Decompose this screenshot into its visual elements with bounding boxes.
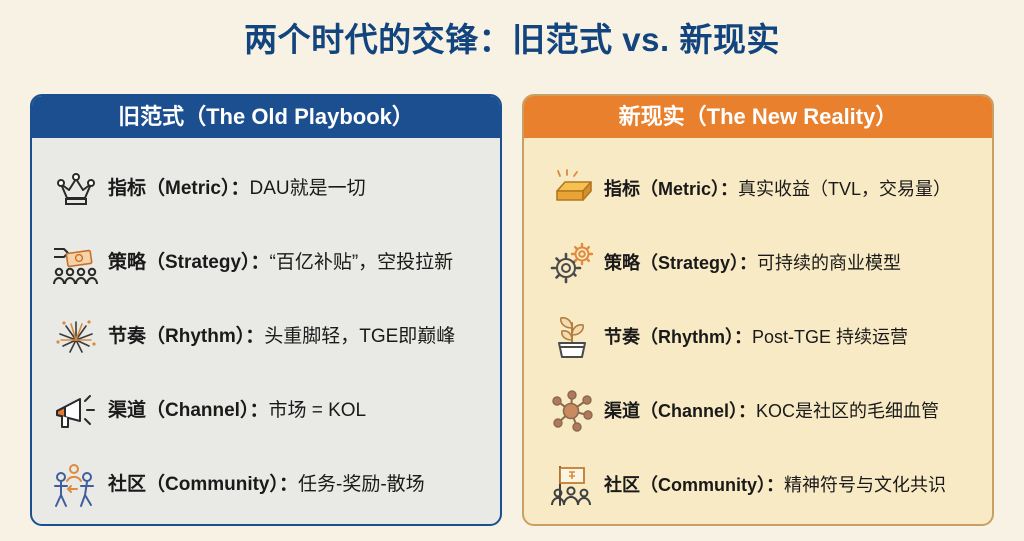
list-item-text: 社区（Community）：精神符号与文化共识 xyxy=(604,472,946,498)
flag-people-icon xyxy=(544,457,600,513)
list-item-text: 渠道（Channel）：KOC是社区的毛细血管 xyxy=(604,398,939,424)
list-item-text: 策略（Strategy）：“百亿补贴”，空投拉新 xyxy=(108,250,453,276)
hand-money-crowd-icon xyxy=(48,235,104,291)
list-item-label: 渠道（Channel）： xyxy=(604,401,756,421)
panel-old-playbook: 旧范式（The Old Playbook） 指标（Metric）：DAU就是一切 xyxy=(30,94,502,526)
list-item: 渠道（Channel）：KOC是社区的毛细血管 xyxy=(524,374,992,448)
list-item: 指标（Metric）：真实收益（TVL，交易量） xyxy=(524,152,992,226)
list-item-text: 渠道（Channel）：市场 = KOL xyxy=(108,398,366,424)
network-nodes-icon xyxy=(544,383,600,439)
list-item: 指标（Metric）：DAU就是一切 xyxy=(32,152,500,226)
list-item-value: KOC是社区的毛细血管 xyxy=(756,401,939,421)
panel-new-body: 指标（Metric）：真实收益（TVL，交易量） xyxy=(524,138,992,512)
list-item-label: 节奏（Rhythm）： xyxy=(108,326,264,347)
list-item-value: 市场 = KOL xyxy=(268,400,366,421)
list-item-label: 策略（Strategy）： xyxy=(108,252,270,273)
panel-old-header: 旧范式（The Old Playbook） xyxy=(32,96,500,138)
list-item-value: Post-TGE 持续运营 xyxy=(752,327,908,347)
list-item: 节奏（Rhythm）：Post-TGE 持续运营 xyxy=(524,300,992,374)
list-item-value: 精神符号与文化共识 xyxy=(784,475,946,495)
list-item-label: 节奏（Rhythm）： xyxy=(604,327,752,347)
page-title: 两个时代的交锋：旧范式 vs. 新现实 xyxy=(0,18,1024,62)
list-item-label: 社区（Community）： xyxy=(604,475,784,495)
list-item-text: 节奏（Rhythm）：Post-TGE 持续运营 xyxy=(604,324,908,350)
list-item-value: 可持续的商业模型 xyxy=(757,253,901,273)
comparison-panels: 旧范式（The Old Playbook） 指标（Metric）：DAU就是一切 xyxy=(0,94,1024,528)
list-item: 策略（Strategy）：“百亿补贴”，空投拉新 xyxy=(32,226,500,300)
list-item-value: 真实收益（TVL，交易量） xyxy=(738,179,951,199)
panel-new-reality: 新现实（The New Reality） 指标（Metric）：真实收益（TVL… xyxy=(522,94,994,526)
list-item-value: 头重脚轻，TGE即巅峰 xyxy=(264,326,455,347)
list-item-value: DAU就是一切 xyxy=(249,178,365,199)
list-item-text: 策略（Strategy）：可持续的商业模型 xyxy=(604,250,901,276)
list-item-text: 社区（Community）：任务-奖励-散场 xyxy=(108,472,425,498)
list-item: 社区（Community）：精神符号与文化共识 xyxy=(524,448,992,522)
list-item: 节奏（Rhythm）：头重脚轻，TGE即巅峰 xyxy=(32,300,500,374)
list-item-label: 指标（Metric）： xyxy=(108,178,249,199)
list-item-text: 指标（Metric）：真实收益（TVL，交易量） xyxy=(604,176,951,202)
list-item: 策略（Strategy）：可持续的商业模型 xyxy=(524,226,992,300)
list-item-value: 任务-奖励-散场 xyxy=(298,474,425,495)
list-item-text: 指标（Metric）：DAU就是一切 xyxy=(108,176,366,202)
list-item-value: “百亿补贴”，空投拉新 xyxy=(270,252,454,273)
list-item-label: 指标（Metric）： xyxy=(604,179,738,199)
crown-icon xyxy=(48,161,104,217)
gold-bar-icon xyxy=(544,161,600,217)
seedling-pot-icon xyxy=(544,309,600,365)
gears-icon xyxy=(544,235,600,291)
list-item-text: 节奏（Rhythm）：头重脚轻，TGE即巅峰 xyxy=(108,324,455,350)
list-item: 社区（Community）：任务-奖励-散场 xyxy=(32,448,500,522)
list-item-label: 社区（Community）： xyxy=(108,474,298,495)
people-leaving-icon xyxy=(48,457,104,513)
panel-old-body: 指标（Metric）：DAU就是一切 xyxy=(32,138,500,512)
megaphone-icon xyxy=(48,383,104,439)
list-item-label: 策略（Strategy）： xyxy=(604,253,757,273)
list-item: 渠道（Channel）：市场 = KOL xyxy=(32,374,500,448)
fireworks-icon xyxy=(48,309,104,365)
panel-new-header: 新现实（The New Reality） xyxy=(524,96,992,138)
list-item-label: 渠道（Channel）： xyxy=(108,400,268,421)
